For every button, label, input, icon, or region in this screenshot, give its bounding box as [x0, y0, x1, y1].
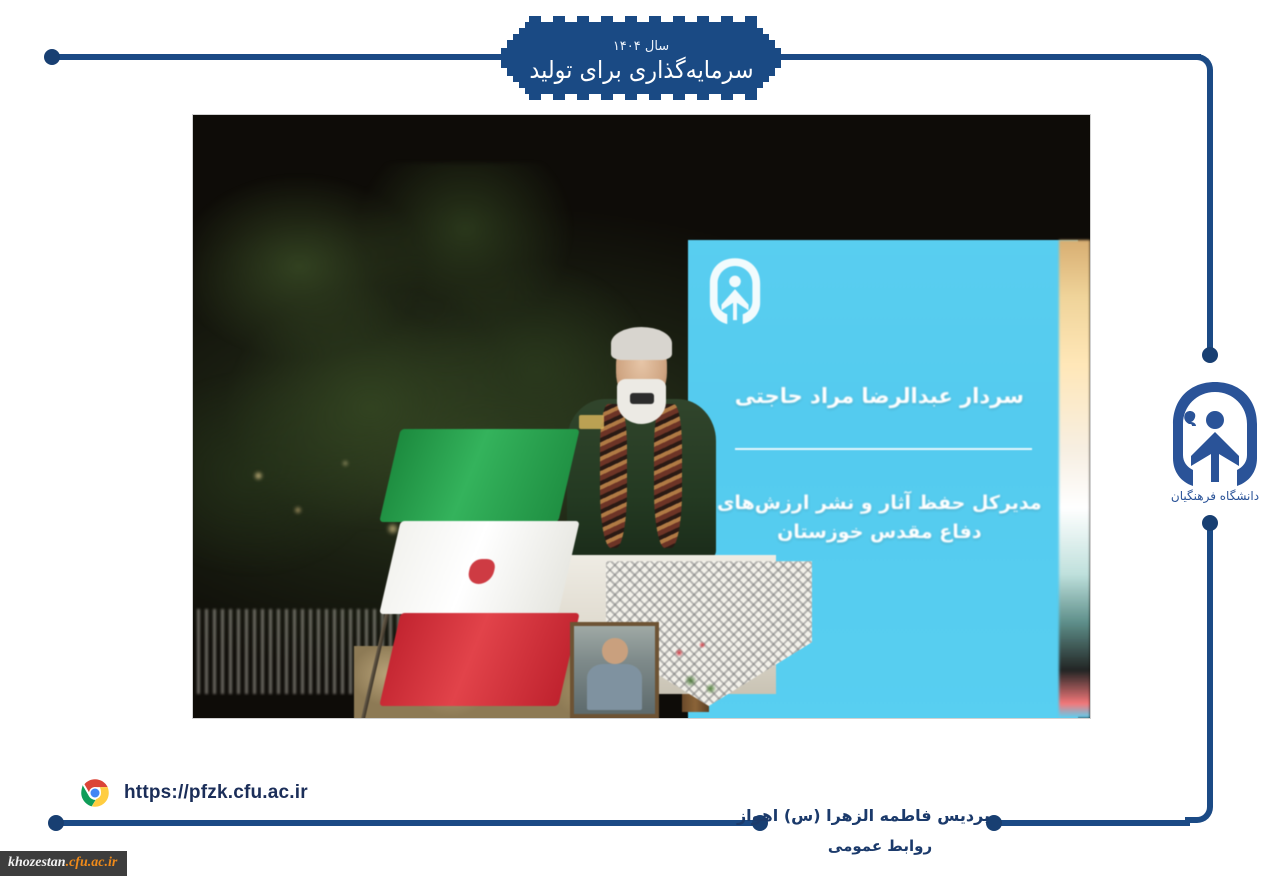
- iran-flag: [390, 429, 569, 706]
- footer-caption-block: پردیس فاطمه الزهرا (س) اهواز روابط عمومی: [770, 806, 990, 855]
- flag-stripe-green: [380, 429, 581, 522]
- event-photo: سردار عبدالرضا مراد حاجتی مدیرکل حفظ آثا…: [193, 115, 1090, 718]
- martyr-portrait-frame: [570, 622, 660, 718]
- slide-speaker-name: سردار عبدالرضا مراد حاجتی: [704, 384, 1055, 408]
- speaker-scarf-right: [654, 404, 681, 548]
- photo-right-edge-strip: [1059, 240, 1090, 718]
- frame-dot-bottom-left: [48, 815, 64, 831]
- header-ribbon: سال ۱۴۰۴ سرمایه‌گذاری برای تولید: [495, 14, 787, 102]
- frame-line-bottom-left: [62, 820, 762, 826]
- poster-canvas: سال ۱۴۰۴ سرمایه‌گذاری برای تولید سردار ع…: [0, 0, 1280, 885]
- ribbon-shape-icon: [495, 14, 787, 102]
- website-row[interactable]: https://pfzk.cfu.ac.ir: [80, 778, 308, 808]
- martyr-portrait-photo: [574, 626, 656, 714]
- watermark-suffix: .cfu.ac.ir: [66, 855, 118, 870]
- memorial-flowers: [659, 634, 731, 712]
- frame-line-bottom-right: [996, 820, 1190, 826]
- frame-corner-bottom-right: [1185, 795, 1213, 823]
- farhangian-logo-icon: دانشگاه فرهنگیان: [1163, 378, 1267, 506]
- site-url-text[interactable]: https://pfzk.cfu.ac.ir: [124, 782, 308, 804]
- speaker-hair: [611, 327, 672, 360]
- martyr-portrait-head: [602, 638, 628, 665]
- slide-role-line-2: دفاع مقدس خوزستان: [696, 518, 1063, 547]
- footer-department: روابط عمومی: [770, 837, 990, 855]
- frame-line-right-lower: [1207, 523, 1213, 801]
- frame-dot-top-left: [44, 49, 60, 65]
- speaker-epaulette: [579, 415, 605, 429]
- farhangian-university-logo: دانشگاه فرهنگیان: [1163, 378, 1267, 506]
- footer-campus-name: پردیس فاطمه الزهرا (س) اهواز: [770, 806, 990, 825]
- slide-divider: [735, 448, 1032, 450]
- logo-caption: دانشگاه فرهنگیان: [1171, 489, 1259, 504]
- microphone-icon: [630, 393, 654, 404]
- farhangian-university-logo-icon: [706, 256, 764, 332]
- frame-dot-right-lower: [1202, 515, 1218, 531]
- watermark: khozestan.cfu.ac.ir: [0, 851, 127, 876]
- frame-dot-right-upper: [1202, 347, 1218, 363]
- flag-stripe-red: [380, 613, 581, 706]
- slide-role-line-1: مدیرکل حفظ آثار و نشر ارزش‌های: [696, 489, 1063, 518]
- chrome-icon: [80, 778, 110, 808]
- slide-speaker-role: مدیرکل حفظ آثار و نشر ارزش‌های دفاع مقدس…: [696, 489, 1063, 548]
- frame-line-right-upper: [1207, 74, 1213, 356]
- martyr-portrait-body: [587, 664, 643, 710]
- watermark-prefix: khozestan: [8, 855, 66, 870]
- frame-line-top-left: [56, 54, 511, 60]
- frame-line-top-right: [775, 54, 1201, 60]
